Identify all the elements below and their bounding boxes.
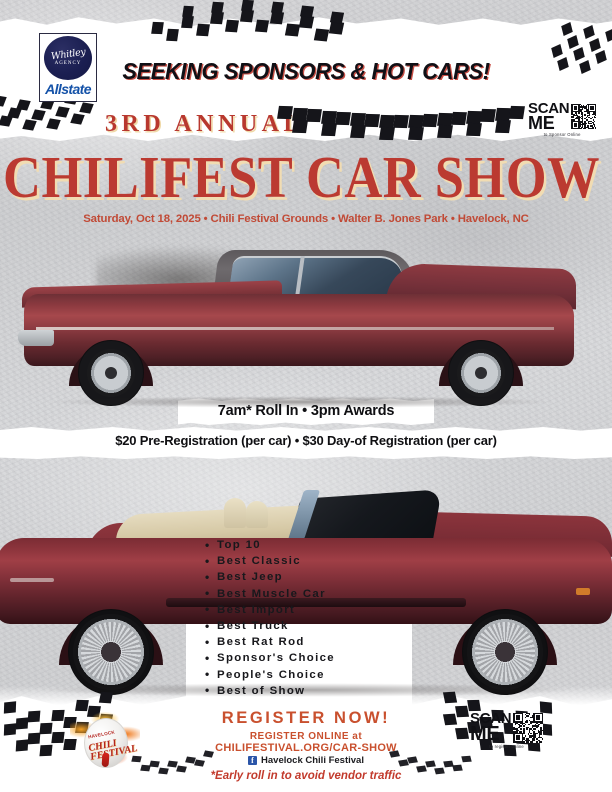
checker-square [211,1,223,13]
checker-square [329,21,344,34]
checker-square [277,106,292,119]
checker-square [408,127,423,140]
car2-side-marker [576,588,590,595]
award-item: Best Muscle Car [205,586,335,602]
award-item: Best Import [205,602,335,618]
checker-square [240,10,254,23]
checker-square [495,120,510,133]
checker-square [271,1,284,13]
checker-square [443,692,457,703]
flyer-canvas: Whitley AGENCY Allstate SEEKING SPONSORS… [0,0,612,792]
agency-label: AGENCY [55,61,82,66]
checker-square [364,114,379,127]
checker-square [166,29,179,41]
pricing-text: $20 Pre-Registration (per car) • $30 Day… [0,433,612,448]
qr-code-register[interactable] [513,713,543,743]
award-item: Best Classic [205,553,335,569]
award-item: Best Truck [205,618,335,634]
scan-caption-register: to register online [489,744,524,749]
edition-label: 3RD ANNUAL [105,111,304,138]
checker-square [182,6,194,17]
award-item: Sponsor's Choice [205,650,335,666]
checker-square [350,125,365,138]
checker-square [393,115,408,128]
classic-coupe-photo [16,244,592,404]
checker-square [196,23,209,36]
car1-bumper [18,330,54,346]
checker-square [480,109,495,122]
scan-caption-sponsor: to Sponsor Online [544,132,581,137]
checker-square [466,123,481,136]
checker-square [255,20,269,33]
award-item: Best of Show [205,683,335,699]
checker-square [241,0,254,11]
car2-badge [10,578,54,582]
checker-square [151,22,164,34]
award-item: Best Jeep [205,569,335,585]
page-title: CHILIFEST CAR SHOW 2025 [3,144,609,211]
car2-headrest-left [224,498,246,528]
facebook-line[interactable]: f Havelock Chili Festival [0,755,612,766]
award-item: People's Choice [205,667,335,683]
checker-square [314,28,329,41]
event-date-location: Saturday, Oct 18, 2025 • Chili Festival … [0,213,612,225]
checker-square [422,114,437,127]
checker-square [292,120,307,133]
checker-square [451,112,466,125]
early-roll-footnote: *Early roll in to avoid vendor traffic [0,770,612,782]
checker-square [330,11,344,23]
checker-square [99,692,113,703]
checker-square [379,127,394,140]
checker-square [509,106,524,119]
checker-square [181,16,194,28]
facebook-page-name: Havelock Chili Festival [261,755,364,766]
checker-square [335,112,350,125]
schedule-text: 7am* Roll In • 3pm Awards [178,403,434,419]
allstate-wordmark: Allstate [45,81,91,97]
checker-square [225,20,239,33]
headline-seeking-sponsors: SEEKING SPONSORS & HOT CARS! [21,58,590,85]
sponsor-logo-allstate[interactable]: Whitley AGENCY Allstate [39,33,97,102]
scan-me-sponsor[interactable]: SCAN ME to Sponsor Online [528,102,596,137]
car2-headrest-right [246,501,268,528]
scan-me-register[interactable]: SCAN ME to register online [470,712,543,749]
award-item: Top 10 [205,537,335,553]
facebook-icon: f [248,756,257,765]
checker-square [306,109,321,122]
checker-square [210,11,224,24]
whitley-agency-emblem: Whitley AGENCY [44,36,92,80]
awards-list: Top 10Best ClassicBest JeepBest Muscle C… [205,537,335,699]
me-word: ME [528,115,569,131]
checker-square [284,23,299,36]
checker-square [321,123,336,136]
award-item: Best Rat Rod [205,634,335,650]
me-word-bottom: ME [470,725,511,743]
checker-square [437,125,452,138]
qr-code-sponsor[interactable] [571,104,596,129]
